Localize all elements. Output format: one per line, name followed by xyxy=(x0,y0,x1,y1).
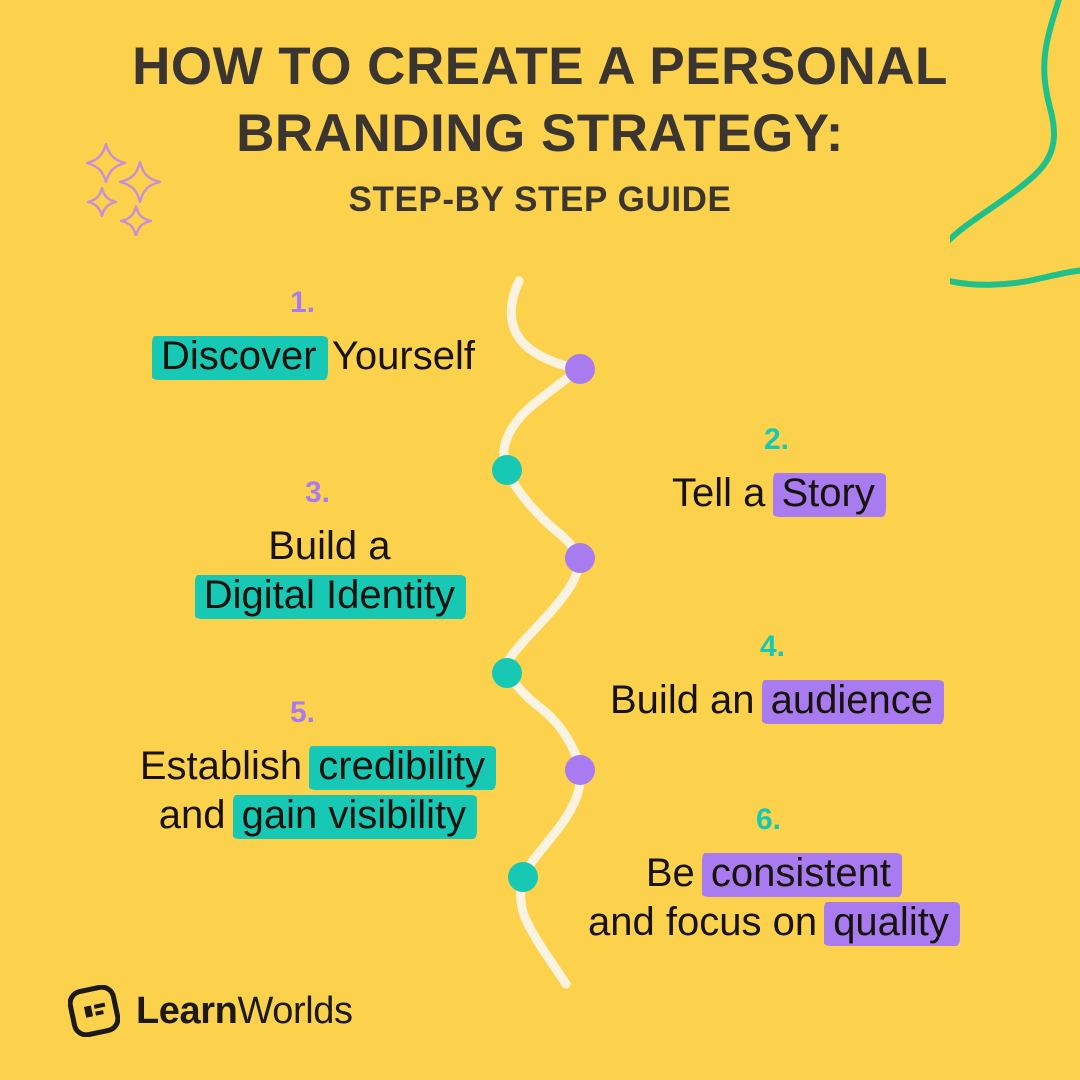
plain-phrase: Tell a xyxy=(672,471,777,515)
highlighted-phrase: Discover xyxy=(156,334,322,378)
highlighted-phrase: Digital Identity xyxy=(199,573,460,617)
timeline-dot-5 xyxy=(565,755,595,785)
step-number-1: 1. xyxy=(156,288,475,318)
plain-phrase: Yourself xyxy=(322,334,475,378)
timeline-dot-2 xyxy=(492,455,522,485)
step-number-5: 5. xyxy=(140,698,490,728)
highlighted-phrase: quality xyxy=(828,900,954,944)
step-text-6: Be consistentand focus on quality xyxy=(588,849,954,947)
timeline-dots-group xyxy=(492,354,595,892)
plain-phrase: and xyxy=(159,793,237,837)
highlighted-phrase: gain visibility xyxy=(237,793,472,837)
step-number-3: 3. xyxy=(199,478,460,508)
highlighted-phrase: Story xyxy=(777,471,880,515)
step-item-5: 5. Establish credibilityand gain visibil… xyxy=(140,698,490,840)
step-text-3: Build aDigital Identity xyxy=(199,522,460,620)
highlighted-phrase: audience xyxy=(766,678,938,722)
infographic-canvas: HOW TO CREATE A PERSONAL BRANDING STRATE… xyxy=(0,0,1080,1080)
timeline-curve xyxy=(504,281,581,984)
page-subtitle: STEP-BY STEP GUIDE xyxy=(0,180,1080,220)
learnworlds-logo: LearnWorlds xyxy=(68,985,353,1037)
step-text-line: Build an audience xyxy=(610,676,938,725)
title-line-1: HOW TO CREATE A PERSONAL xyxy=(132,37,948,96)
step-text-1: Discover Yourself xyxy=(156,332,475,381)
plain-phrase: Build an xyxy=(610,678,766,722)
step-text-line: Discover Yourself xyxy=(156,332,475,381)
squiggle-lower-stroke xyxy=(950,270,1080,285)
timeline-dot-3 xyxy=(565,543,595,573)
step-item-3: 3. Build aDigital Identity xyxy=(199,478,460,620)
highlighted-phrase: consistent xyxy=(706,851,896,895)
logo-bar-top xyxy=(94,1003,106,1009)
step-item-4: 4. Build an audience xyxy=(610,632,938,725)
step-text-line: Build a xyxy=(199,522,460,571)
step-text-4: Build an audience xyxy=(610,676,938,725)
page-title: HOW TO CREATE A PERSONAL BRANDING STRATE… xyxy=(0,34,1080,168)
step-number-4: 4. xyxy=(610,632,938,662)
learnworlds-logo-text: LearnWorlds xyxy=(136,990,353,1033)
timeline-dot-6 xyxy=(508,862,538,892)
learnworlds-logo-mark-icon xyxy=(68,985,120,1037)
header: HOW TO CREATE A PERSONAL BRANDING STRATE… xyxy=(0,34,1080,220)
plain-phrase: Establish xyxy=(140,744,313,788)
title-line-2: BRANDING STRATEGY: xyxy=(236,104,844,163)
step-number-2: 2. xyxy=(672,425,880,455)
highlighted-phrase: credibility xyxy=(313,744,490,788)
step-item-1: 1. Discover Yourself xyxy=(156,288,475,381)
step-text-line: Establish credibility xyxy=(140,742,490,791)
plain-phrase: and focus on xyxy=(588,900,828,944)
step-item-6: 6. Be consistentand focus on quality xyxy=(588,805,954,947)
step-number-6: 6. xyxy=(588,805,954,835)
timeline-dot-1 xyxy=(565,354,595,384)
step-text-line: Digital Identity xyxy=(199,571,460,620)
step-text-line: Be consistent xyxy=(588,849,954,898)
logo-bar-bottom xyxy=(95,1010,104,1016)
step-text-line: and gain visibility xyxy=(140,791,490,840)
step-item-2: 2. Tell a Story xyxy=(672,425,880,518)
step-text-line: Tell a Story xyxy=(672,469,880,518)
step-text-5: Establish credibilityand gain visibility xyxy=(140,742,490,840)
plain-phrase: Build a xyxy=(268,524,390,568)
step-text-2: Tell a Story xyxy=(672,469,880,518)
logo-bar-left xyxy=(84,1006,93,1018)
logo-rounded-square xyxy=(68,985,120,1037)
timeline-dot-4 xyxy=(492,658,522,688)
logo-text-worlds: Worlds xyxy=(237,990,352,1032)
step-text-line: and focus on quality xyxy=(588,898,954,947)
logo-text-learn: Learn xyxy=(136,990,237,1032)
plain-phrase: Be xyxy=(646,851,706,895)
